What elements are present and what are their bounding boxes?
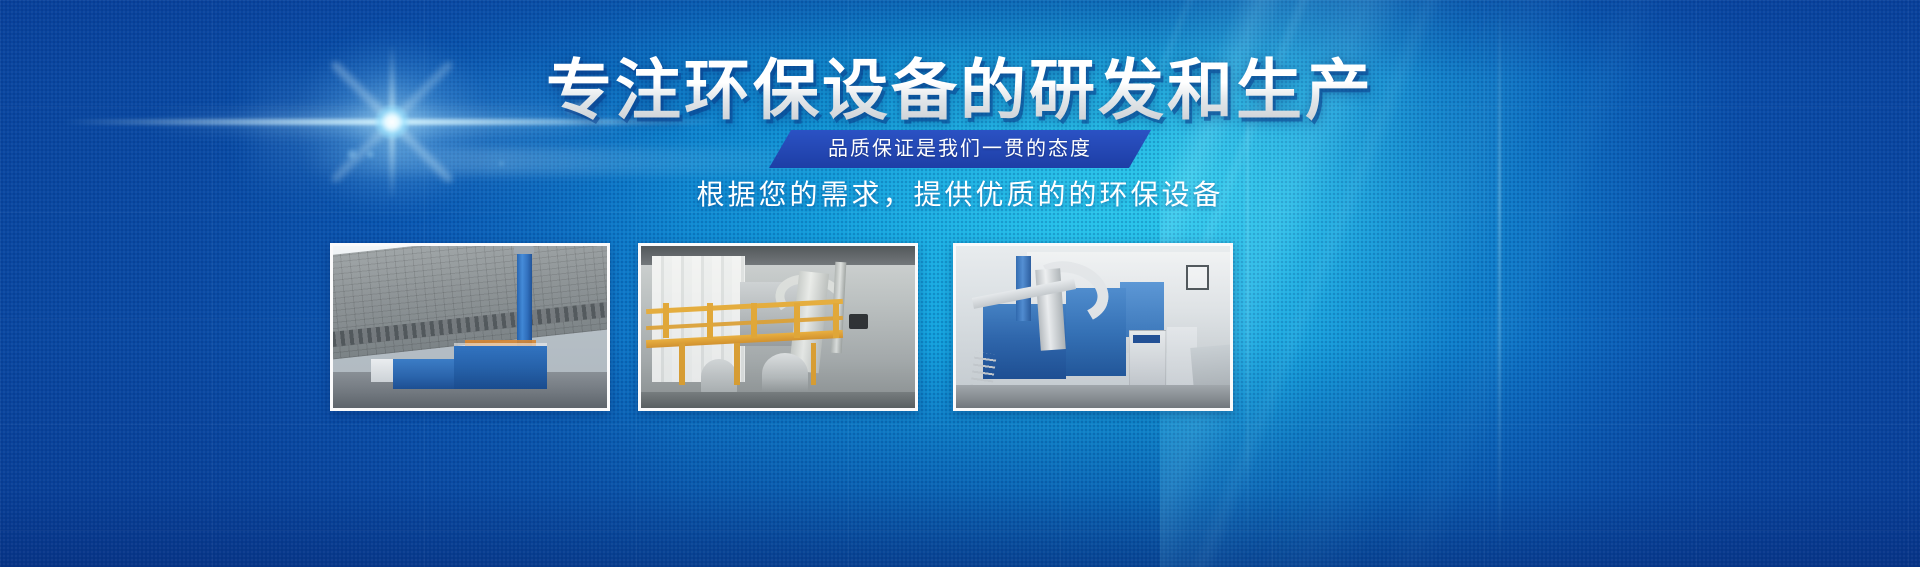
photo-industrial-workshop-dust-collector[interactable]: [330, 243, 610, 411]
photo-strip: [0, 243, 1920, 413]
banner-ribbon: 品质保证是我们一贯的态度: [769, 130, 1151, 168]
banner-headline: 专注环保设备的研发和生产: [0, 54, 1920, 126]
photo-plant-walkway-equipment[interactable]: [638, 243, 918, 411]
banner-subtitle: 根据您的需求，提供优质的的环保设备: [0, 176, 1920, 214]
promo-banner: 专注环保设备的研发和生产 品质保证是我们一贯的态度 根据您的需求，提供优质的的环…: [0, 0, 1920, 567]
banner-ribbon-text: 品质保证是我们一贯的态度: [828, 139, 1092, 159]
banner-ribbon-wrap: 品质保证是我们一贯的态度: [0, 128, 1920, 170]
photo-blue-dust-collector-ducting[interactable]: [953, 243, 1233, 411]
